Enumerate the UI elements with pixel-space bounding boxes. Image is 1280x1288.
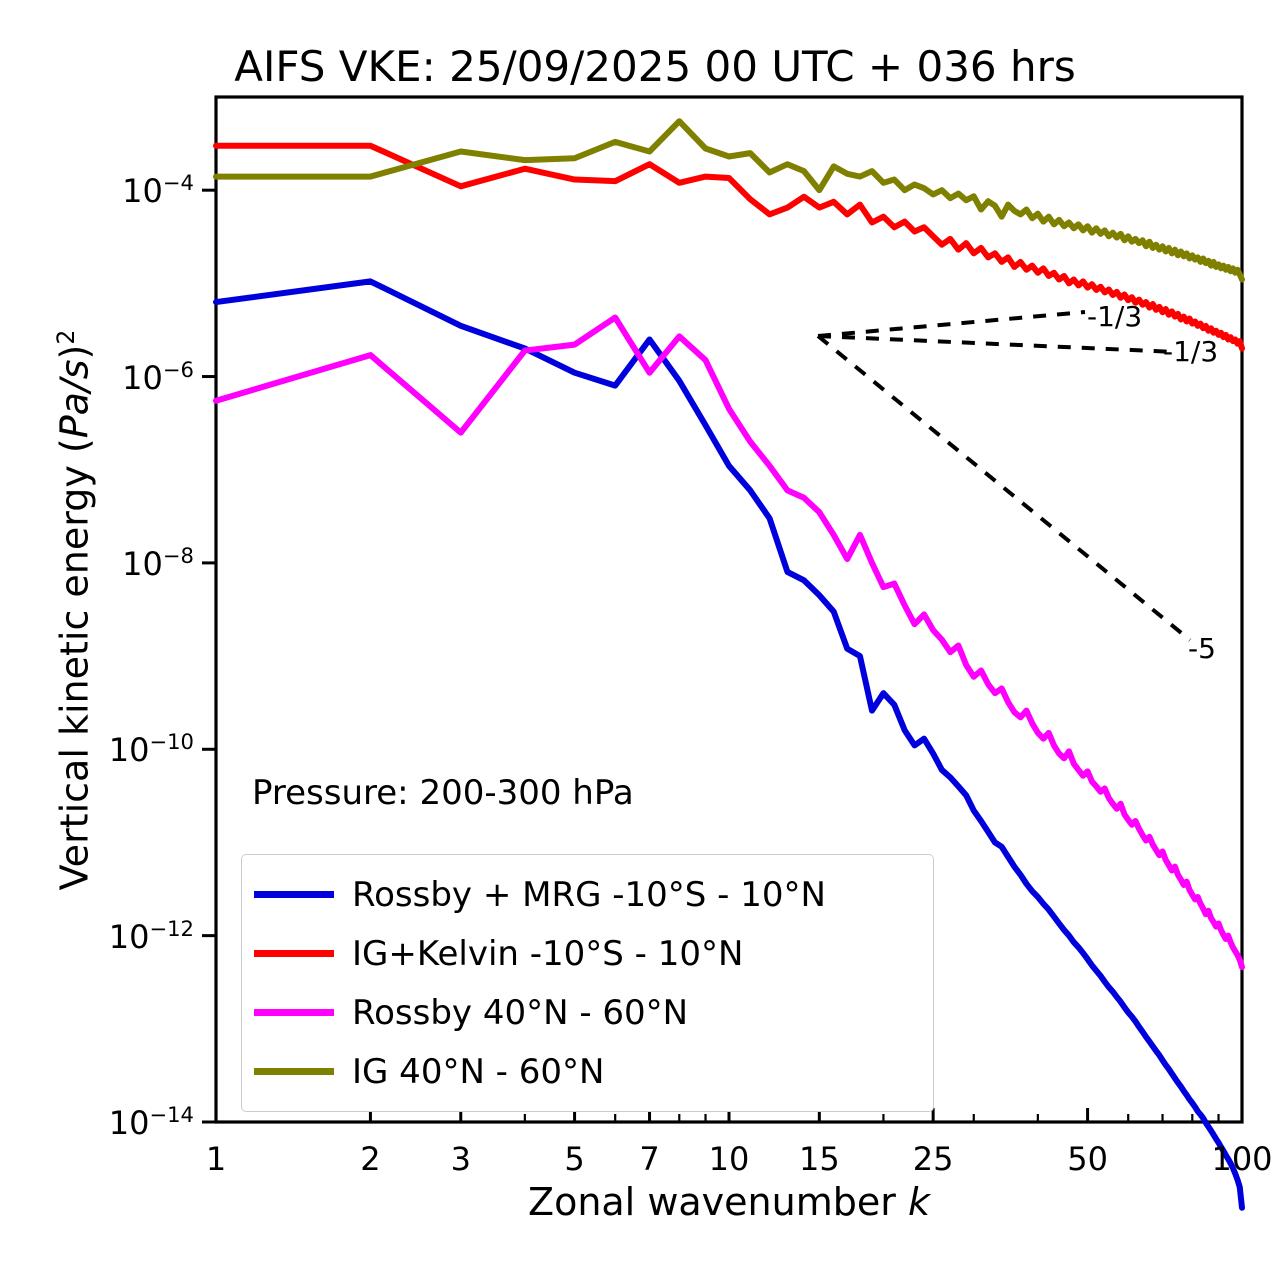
legend-color-swatch xyxy=(254,1009,334,1016)
x-tick-label: 5 xyxy=(564,1140,584,1178)
x-tick-label: 7 xyxy=(639,1140,659,1178)
legend-item-1[interactable]: IG+Kelvin -10°S - 10°N xyxy=(254,924,919,983)
pressure-annotation: Pressure: 200-300 hPa xyxy=(252,773,634,813)
legend-item-label: IG+Kelvin -10°S - 10°N xyxy=(352,934,743,974)
y-tick-label: 10−12 xyxy=(0,916,194,956)
legend: Rossby + MRG -10°S - 10°NIG+Kelvin -10°S… xyxy=(241,854,934,1112)
slope-label-2: -5 xyxy=(1188,632,1216,665)
y-tick-label: 10−4 xyxy=(0,170,194,210)
x-tick-label: 15 xyxy=(799,1140,840,1178)
legend-item-3[interactable]: IG 40°N - 60°N xyxy=(254,1042,919,1101)
x-tick-label: 10 xyxy=(709,1140,750,1178)
reference-line-0 xyxy=(818,312,1085,336)
x-tick-label: 25 xyxy=(913,1140,954,1178)
reference-line-2 xyxy=(818,336,1190,640)
x-tick-label: 100 xyxy=(1211,1140,1272,1178)
y-tick-label: 10−8 xyxy=(0,543,194,583)
legend-color-swatch xyxy=(254,891,334,898)
slope-label-0: -1/3 xyxy=(1087,300,1142,333)
legend-item-2[interactable]: Rossby 40°N - 60°N xyxy=(254,983,919,1042)
slope-label-1: -1/3 xyxy=(1163,335,1218,368)
reference-line-1 xyxy=(818,336,1176,352)
x-tick-label: 2 xyxy=(360,1140,380,1178)
legend-item-label: Rossby + MRG -10°S - 10°N xyxy=(352,875,826,915)
legend-color-swatch xyxy=(254,950,334,957)
x-tick-label: 1 xyxy=(206,1140,226,1178)
x-tick-label: 50 xyxy=(1067,1140,1108,1178)
y-tick-label: 10−6 xyxy=(0,357,194,397)
legend-color-swatch xyxy=(254,1068,334,1075)
legend-item-label: Rossby 40°N - 60°N xyxy=(352,993,688,1033)
x-tick-label: 3 xyxy=(451,1140,471,1178)
legend-item-label: IG 40°N - 60°N xyxy=(352,1052,604,1092)
legend-item-0[interactable]: Rossby + MRG -10°S - 10°N xyxy=(254,865,919,924)
y-tick-label: 10−14 xyxy=(0,1102,194,1142)
chart-figure: AIFS VKE: 25/09/2025 00 UTC + 036 hrs Ve… xyxy=(0,0,1280,1288)
y-tick-label: 10−10 xyxy=(0,729,194,769)
